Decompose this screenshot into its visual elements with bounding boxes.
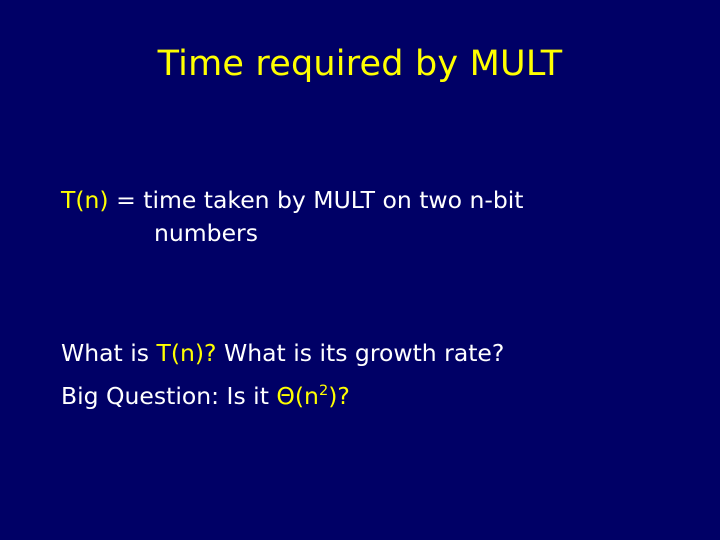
definition-line-2: numbers [61,217,661,250]
definition-block: T(n) = time taken by MULT on two n-bit n… [61,184,661,250]
definition-term: T(n) [61,186,109,214]
questions-block: What is T(n)? What is its growth rate? B… [61,337,661,413]
question-growth-rate: What is T(n)? What is its growth rate? [61,337,661,370]
question-growth-prefix: What is [61,339,156,367]
question-big-term: Θ(n2)? [276,382,349,410]
definition-line-1-rest: = time taken by MULT on two n-bit [116,186,523,214]
page-title: Time required by MULT [0,43,720,85]
slide-canvas: Time required by MULT T(n) = time taken … [0,0,720,540]
question-growth-suffix: What is its growth rate? [217,339,505,367]
question-growth-term: T(n)? [156,339,216,367]
exponent-two: 2 [319,382,328,399]
theta-notation-close: )? [328,382,350,410]
question-big-prefix: Big Question: Is it [61,382,276,410]
definition-line-1: T(n) = time taken by MULT on two n-bit [61,184,661,217]
question-big: Big Question: Is it Θ(n2)? [61,380,661,413]
theta-notation-open: Θ(n [276,382,319,410]
